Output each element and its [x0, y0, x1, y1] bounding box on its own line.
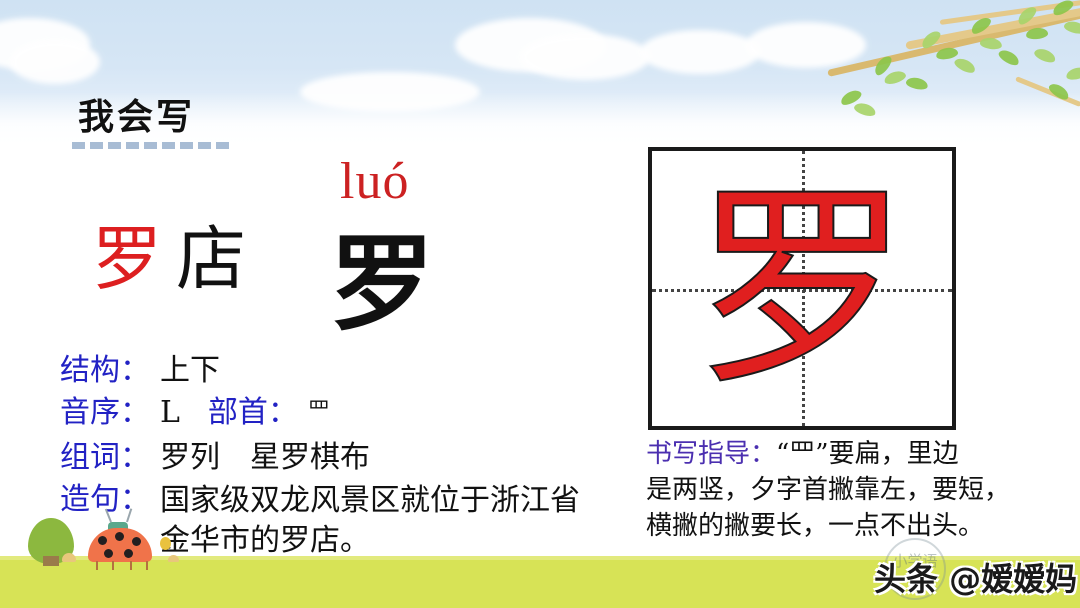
decorative-branch [820, 0, 1080, 134]
ladybug-spot [98, 536, 107, 545]
bee-decoration [160, 537, 171, 550]
ladybug-leg [96, 561, 98, 570]
sentence-value: 国家级双龙风景区就位于浙江省金华市的罗店。 [160, 481, 590, 561]
words-value: 罗列 星罗棋布 [160, 439, 370, 477]
watermark-handle: 头条 @嫒嫒妈 [874, 560, 1077, 598]
initial-value: L [160, 394, 180, 432]
character-info: 结构： 上下 音序： L 部首： 罒 组词： 罗列 星罗棋布 造句： 国家级双龙… [60, 352, 620, 565]
info-row-words: 组词： 罗列 星罗棋布 [60, 439, 620, 477]
word-char-highlight: 罗 [92, 216, 162, 302]
pinyin-label: luó [340, 152, 409, 211]
words-label: 组词： [60, 439, 150, 477]
ladybug-leg [146, 561, 148, 570]
ladybug-leg [112, 561, 114, 570]
display-character: 罗 [330, 228, 434, 340]
guidance-line-1: 书写指导：“罒”要扁，里边 [646, 436, 1070, 472]
mushroom-decoration [62, 553, 76, 562]
guidance-label: 书写指导： [646, 439, 776, 469]
guidance-text-3: 横撇的撇要长，一点不出头。 [646, 508, 1070, 544]
word-char-second: 店 [176, 216, 246, 302]
cloud-shape [520, 34, 650, 80]
sentence-label: 造句： [60, 481, 150, 519]
guidance-text-2: 是两竖，夕字首撇靠左，要短， [646, 472, 1070, 508]
info-row-structure: 结构： 上下 [60, 352, 620, 390]
cloud-shape [10, 40, 100, 84]
cloud-shape [640, 30, 760, 74]
ladybug-spot [104, 549, 113, 558]
structure-label: 结构： [60, 352, 150, 390]
word-example: 罗 店 [92, 216, 246, 302]
structure-value: 上下 [160, 352, 220, 390]
ladybug-spot [115, 532, 124, 541]
radical-value: 罒 [308, 393, 330, 431]
writing-guidance: 书写指导：“罒”要扁，里边 是两竖，夕字首撇靠左，要短， 横撇的撇要长，一点不出… [646, 436, 1070, 544]
ladybug-leg [130, 561, 132, 570]
title-underline [72, 142, 232, 149]
initial-label: 音序： [60, 394, 150, 432]
info-row-initial: 音序： L 部首： 罒 [60, 394, 620, 435]
tree-trunk [43, 556, 59, 566]
page-title: 我会写 [72, 96, 232, 140]
practice-grid-box: 罗 [648, 147, 956, 430]
ladybug-spot [124, 549, 133, 558]
grid-character: 罗 [652, 151, 952, 426]
ladybug-spot [132, 537, 141, 546]
guidance-text-1: “罒”要扁，里边 [776, 439, 959, 469]
section-title: 我会写 [72, 96, 232, 149]
mushroom-decoration [168, 555, 179, 562]
slide-canvas: 我会写 luó 罗 店 罗 结构： 上下 音序： L 部首： 罒 组词： 罗列 … [0, 0, 1080, 608]
radical-label: 部首： [208, 394, 298, 432]
